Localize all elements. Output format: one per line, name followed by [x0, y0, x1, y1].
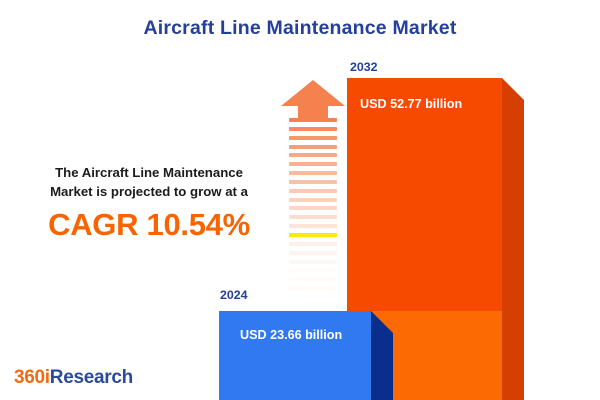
bar-label-2024: 2024	[220, 288, 248, 302]
cagr-annotation: The Aircraft Line Maintenance Market is …	[18, 163, 280, 243]
bar-label-2032: 2032	[350, 60, 378, 74]
arrow-stripe	[289, 180, 337, 184]
brand-logo-part-1: 360i	[14, 367, 50, 388]
arrow-stripe	[289, 224, 337, 228]
bar-2024	[219, 311, 371, 400]
arrow-stripe	[289, 268, 337, 272]
arrow-stripe	[289, 127, 337, 131]
bar-2032-value-label: USD 52.77 billion	[360, 97, 462, 111]
brand-logo-part-2: Research	[50, 367, 133, 388]
growth-arrow	[281, 80, 345, 295]
arrow-stripe	[289, 277, 337, 281]
arrow-up-icon	[281, 80, 345, 118]
arrow-stripe	[289, 145, 337, 149]
cagr-value: CAGR 10.54%	[18, 207, 280, 243]
arrow-stripe	[289, 260, 337, 264]
arrow-stripe	[289, 118, 337, 122]
arrow-stripe	[289, 171, 337, 175]
cagr-description-line-2: Market is projected to grow at a	[18, 182, 280, 201]
arrow-stripe	[289, 189, 337, 193]
arrow-stripe	[289, 198, 337, 202]
arrow-stripe	[289, 233, 337, 237]
bar-2032-side-face	[502, 78, 524, 400]
arrow-stripe	[289, 162, 337, 166]
arrow-stripe	[289, 215, 337, 219]
arrow-stripe	[289, 286, 337, 290]
cagr-description-line-1: The Aircraft Line Maintenance	[18, 163, 280, 182]
infographic-canvas: Aircraft Line Maintenance Market The Air…	[0, 0, 600, 400]
arrow-stripe	[289, 242, 337, 246]
bar-2024-side-face	[371, 311, 393, 400]
arrow-stripe	[289, 206, 337, 210]
arrow-gradient-stripes	[289, 118, 337, 295]
arrow-stripe	[289, 251, 337, 255]
bar-2024-value-label: USD 23.66 billion	[240, 328, 342, 342]
page-title: Aircraft Line Maintenance Market	[0, 17, 600, 40]
arrow-stripe	[289, 153, 337, 157]
arrow-stripe	[289, 136, 337, 140]
brand-logo: 360iResearch	[14, 367, 133, 389]
